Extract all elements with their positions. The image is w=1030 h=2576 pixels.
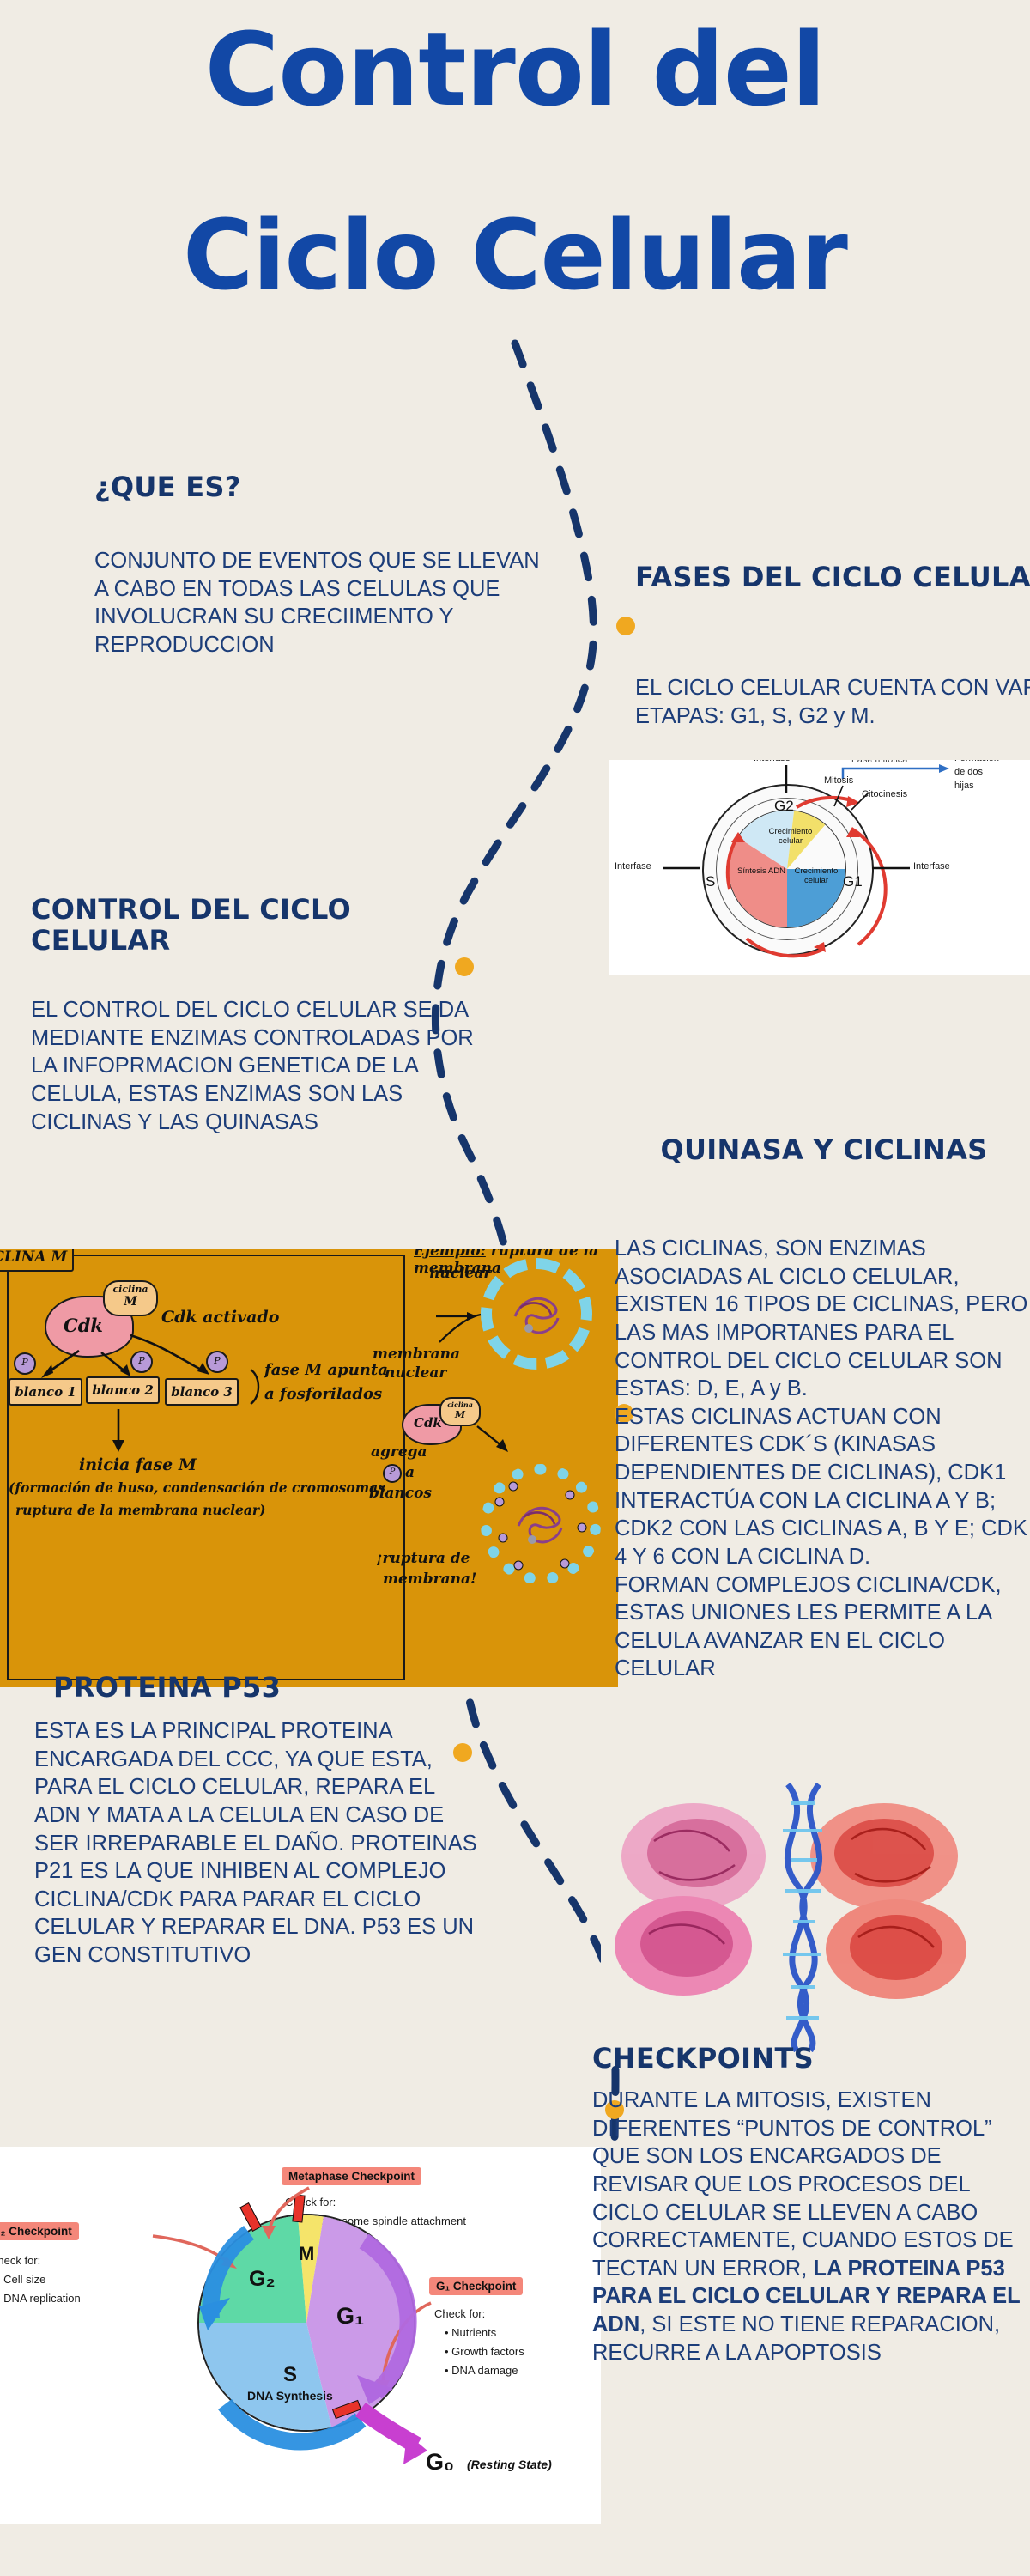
wheel-phase-g1: G1 bbox=[843, 873, 863, 890]
p53-protein-structure-figure bbox=[601, 1777, 1030, 2052]
infographic-poster: Control del Ciclo Celular ¿QUE ES? CONJU… bbox=[0, 0, 1030, 2576]
section-heading-p53: PROTEINA P53 bbox=[53, 1673, 414, 1704]
section-heading-control: CONTROL DEL CICLO CELULAR bbox=[31, 895, 409, 957]
section-heading-que-es: ¿QUE ES? bbox=[94, 472, 455, 503]
wheel-label-citocinesis: Citocinesis bbox=[862, 789, 907, 799]
section-heading-fases: FASES DEL CICLO CELULAR bbox=[635, 562, 1030, 593]
wheel-arrows bbox=[609, 760, 1030, 975]
checkpoint-callout-arrows bbox=[0, 2147, 601, 2524]
checkpoints-body-part-2: , SI ESTE NO TIENE REPARACION, RECURRE A… bbox=[592, 2312, 1000, 2365]
ruptura-membrana-label-2: membrana! bbox=[383, 1571, 477, 1588]
ciclina-m-badge-small: ciclina M bbox=[439, 1397, 481, 1426]
agrega-label: agrega bbox=[371, 1443, 427, 1461]
ciclina-m-small-line-2: M bbox=[441, 1409, 479, 1420]
path-dot-2 bbox=[455, 957, 474, 976]
wheel-label-interfase-left: Interfase bbox=[615, 861, 651, 872]
checkpoint-wheel-figure: G₂ Checkpoint Check for: • Cell size • D… bbox=[0, 2147, 601, 2524]
cell-cycle-wheel-figure: Crecimiento celular Síntesis ADN Crecimi… bbox=[609, 760, 1030, 975]
membrana-nuclear-label-1: membrana bbox=[373, 1346, 460, 1363]
p53-protein-svg bbox=[601, 1777, 1030, 2052]
ejemplo-word: Ejemplo: bbox=[414, 1249, 486, 1260]
title-line-1: Control del bbox=[0, 17, 1030, 124]
section-body-que-es: CONJUNTO DE EVENTOS QUE SE LLEVAN A CABO… bbox=[94, 547, 541, 659]
section-heading-quinasa: QUINASA Y CICLINAS bbox=[652, 1135, 996, 1166]
cdk-cyclin-diagram-panel: + CICLINA M Cdk ciclina M Cdk activado P… bbox=[0, 1249, 618, 1687]
wheel-phase-g2: G2 bbox=[774, 798, 794, 815]
wheel-phase-s: S bbox=[706, 873, 715, 890]
section-body-checkpoints: DURANTE LA MITOSIS, EXISTEN DIFERENTES “… bbox=[592, 2087, 1030, 2366]
poster-title: Control del Ciclo Celular bbox=[0, 17, 1030, 307]
agrega-a-label: a bbox=[405, 1464, 415, 1481]
section-body-quinasa: LAS CICLINAS, SON ENZIMAS ASOCIADAS AL C… bbox=[615, 1235, 1030, 1683]
title-line-2: Ciclo Celular bbox=[0, 206, 1030, 307]
section-heading-checkpoints: CHECKPOINTS bbox=[592, 2044, 996, 2075]
wheel-label-mitosis: Mitosis bbox=[824, 775, 853, 786]
blancos-label: blancos bbox=[369, 1485, 432, 1502]
wheel-label-interfase-right: Interfase bbox=[913, 861, 950, 872]
wheel-label-fase-mitotica: Fase mitótica bbox=[851, 760, 907, 765]
path-dot-1 bbox=[616, 617, 635, 635]
wheel-label-interfase-top: Interfase bbox=[754, 760, 791, 763]
ciclina-m-small-line-1: ciclina bbox=[441, 1400, 479, 1409]
wheel-label-formacion-1: Formación bbox=[954, 760, 999, 763]
cdk-blob-small-label: Cdk bbox=[414, 1415, 442, 1431]
section-body-p53: ESTA ES LA PRINCIPAL PROTEINA ENCARGADA … bbox=[34, 1717, 481, 1970]
nucleus-ruptured-illustration bbox=[481, 1464, 601, 1584]
wheel-label-formacion-3: hijas bbox=[954, 781, 974, 791]
nucleus-intact-illustration bbox=[481, 1258, 592, 1370]
checkpoints-body-part-1: DURANTE LA MITOSIS, EXISTEN DIFERENTES “… bbox=[592, 2088, 1014, 2281]
wheel-label-formacion-2: de dos bbox=[954, 767, 983, 777]
section-body-control: EL CONTROL DEL CICLO CELULAR SE DA MEDIA… bbox=[31, 996, 477, 1136]
agrega-phospho-node: P bbox=[383, 1464, 402, 1483]
membrana-nuclear-label-2: nuclear bbox=[385, 1364, 446, 1382]
ruptura-membrana-label-1: ¡ruptura de bbox=[376, 1550, 470, 1567]
section-body-fases: EL CICLO CELULAR CUENTA CON VARIAS ETAPA… bbox=[635, 674, 1030, 730]
